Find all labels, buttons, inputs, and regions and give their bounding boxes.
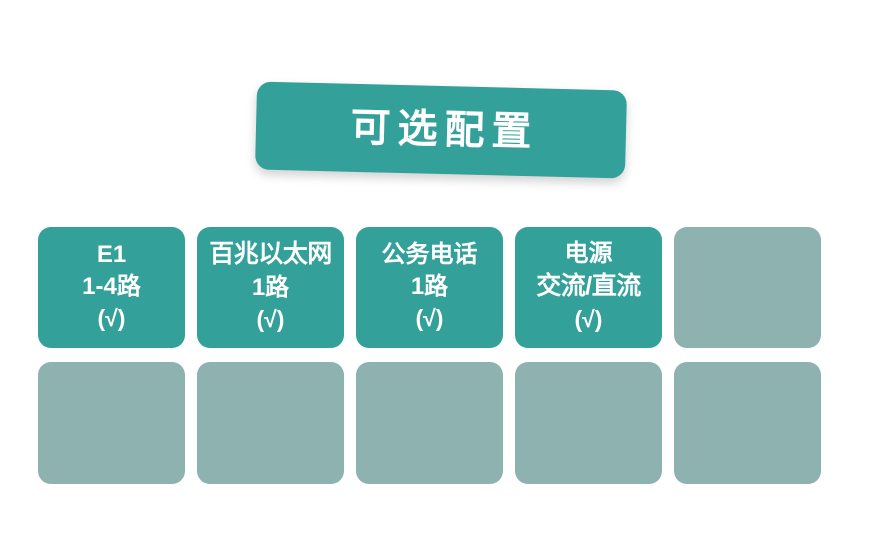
config-card-placeholder-2-5[interactable] <box>674 362 821 484</box>
config-card-e1[interactable]: E1 1-4路 (√) <box>38 227 185 348</box>
config-card-detail: 1路 <box>252 272 289 304</box>
config-card-checkmark: (√) <box>98 303 126 334</box>
card-row-1: E1 1-4路 (√) 百兆以太网 1路 (√) 公务电话 1路 (√) 电源 … <box>38 227 845 348</box>
page-title: 可选配置 <box>343 108 539 153</box>
config-card-placeholder-2-1[interactable] <box>38 362 185 484</box>
config-card-placeholder-1-5[interactable] <box>674 227 821 348</box>
config-card-detail: 1-4路 <box>82 271 141 303</box>
card-row-2 <box>38 362 845 484</box>
config-card-title: 公务电话 <box>382 239 478 271</box>
config-card-fast-ethernet[interactable]: 百兆以太网 1路 (√) <box>197 227 344 348</box>
config-card-power-supply[interactable]: 电源 交流/直流 (√) <box>515 227 662 348</box>
config-card-placeholder-2-4[interactable] <box>515 362 662 484</box>
config-card-placeholder-2-3[interactable] <box>356 362 503 484</box>
config-card-detail: 1路 <box>411 271 448 303</box>
config-card-detail: 交流/直流 <box>536 270 640 304</box>
config-card-title: E1 <box>97 239 126 271</box>
config-card-checkmark: (√) <box>416 303 444 334</box>
optional-configuration-panel: 可选配置 E1 1-4路 (√) 百兆以太网 1路 (√) 公务电话 1路 (√… <box>0 0 880 560</box>
configuration-card-grid: E1 1-4路 (√) 百兆以太网 1路 (√) 公务电话 1路 (√) 电源 … <box>38 227 845 484</box>
config-card-checkmark: (√) <box>257 304 285 335</box>
config-card-service-phone[interactable]: 公务电话 1路 (√) <box>356 227 503 348</box>
section-banner: 可选配置 <box>255 81 627 178</box>
config-card-checkmark: (√) <box>575 304 603 335</box>
config-card-title: 电源 <box>565 238 613 270</box>
section-banner-background: 可选配置 <box>255 81 627 178</box>
config-card-placeholder-2-2[interactable] <box>197 362 344 484</box>
config-card-title: 百兆以太网 <box>209 238 332 272</box>
